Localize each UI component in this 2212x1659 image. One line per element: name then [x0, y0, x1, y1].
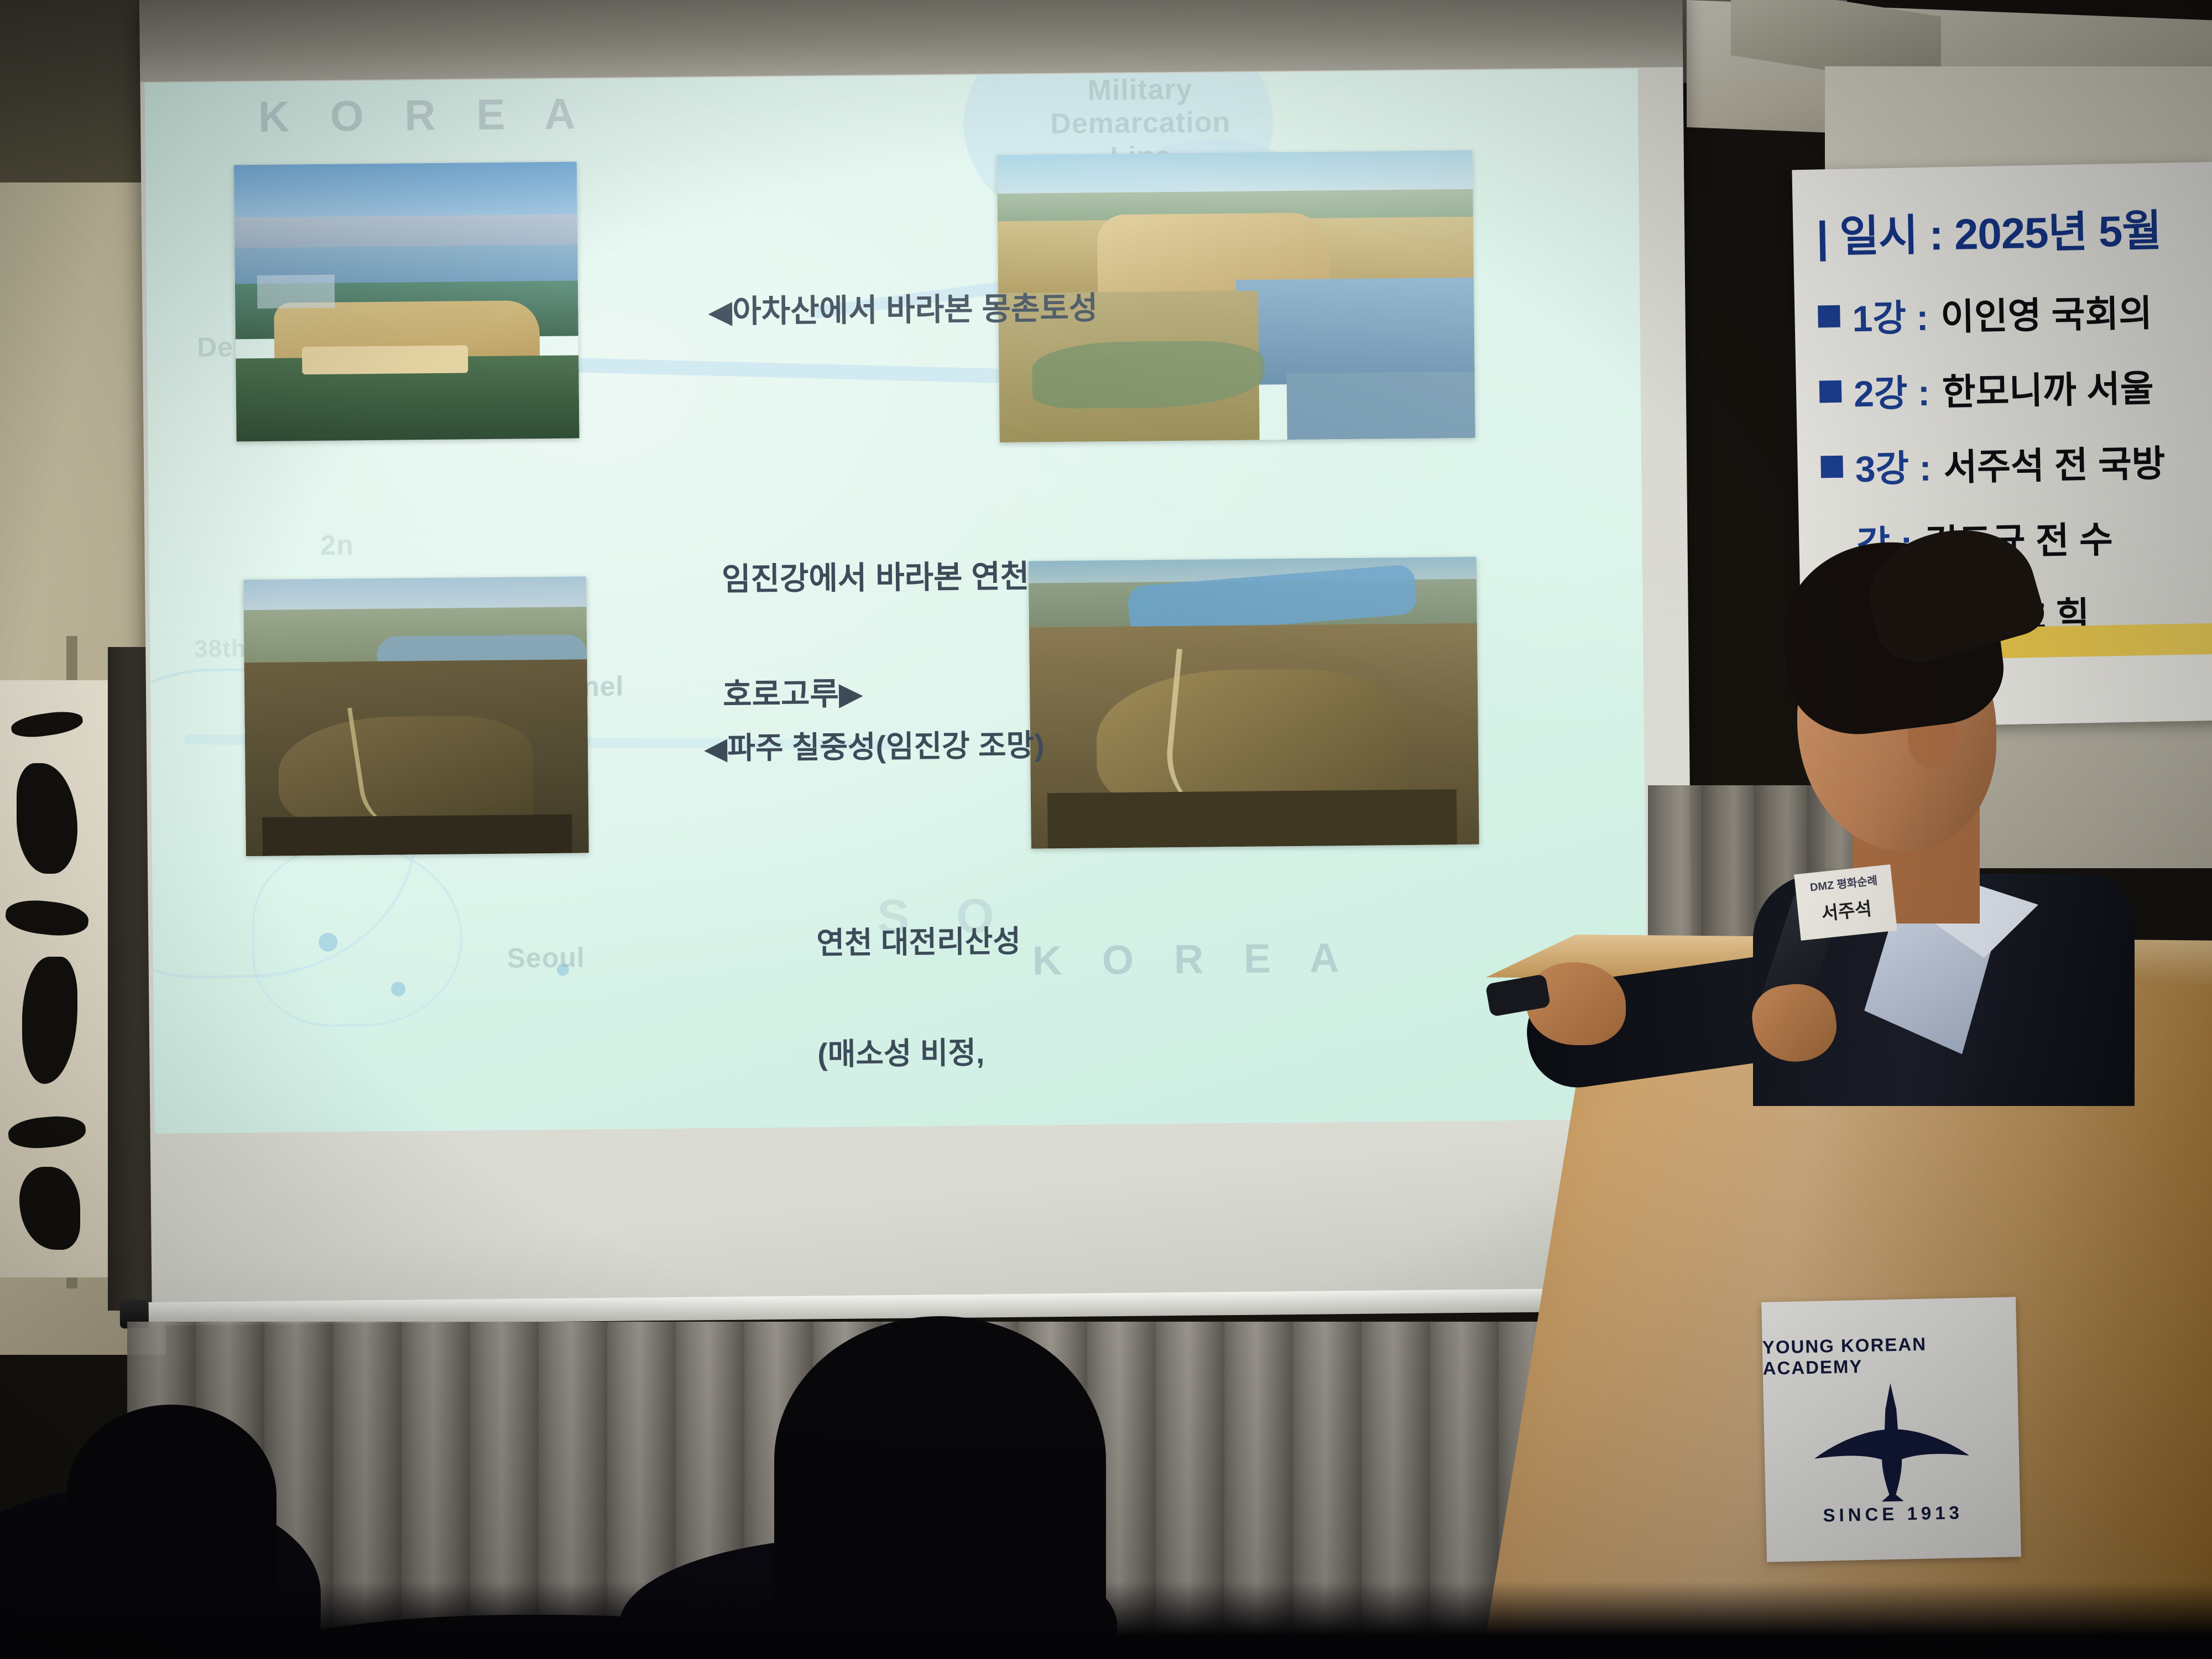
map-label-korea-top: K O R E A: [258, 88, 590, 142]
map-label-2nd-tunnel: 2n: [320, 529, 354, 561]
caption-daejeonri: 연천 대전리산성 (매소성 비정, 한탄강 조망)▶: [816, 849, 1024, 1134]
calligraphy-scroll: [0, 680, 111, 1277]
banner-item-3-num: 3강 :: [1855, 439, 1932, 493]
speaker-presenter: DMZ 평화순례 서주석: [1687, 542, 2107, 1018]
young-korean-academy-logo: YOUNG KOREAN ACADEMY SINCE 1913: [1761, 1297, 2021, 1562]
banner-item-3: 3강 : 서주석 전 국방: [1820, 433, 2212, 494]
map-island-outline: [252, 843, 463, 1027]
caption-horogoru-line1: 임진강에서 바라본 연천: [722, 558, 1030, 599]
bottom-shadow: [0, 1582, 2212, 1659]
map-marker-dot-1: [319, 933, 337, 952]
mdl-line-1: Military: [1007, 72, 1273, 108]
map-label-seoul: Seoul: [507, 941, 585, 974]
screenshot-root: K O R E A Military Demarcation Line De 3…: [0, 0, 2212, 1659]
map-label-dmz-partial: De: [197, 331, 233, 363]
banner-item-3-text: 서주석 전 국방: [1943, 434, 2166, 492]
logo-arc-text: YOUNG KOREAN ACADEMY: [1762, 1332, 2017, 1379]
banner-item-2-text: 한모니까 서울: [1942, 359, 2154, 416]
audience-member-1-head: [66, 1405, 276, 1587]
bird-icon: [1807, 1375, 1976, 1505]
caption-daejeonri-line2: (매소성 비정,: [817, 1034, 1022, 1073]
projection-screen: K O R E A Military Demarcation Line De 3…: [139, 0, 1734, 1327]
badge-name-text: 서주석: [1797, 891, 1896, 928]
map-river-imjin: [567, 358, 1065, 385]
caption-mongchon: ◀아차산에서 바라본 몽촌토성: [708, 289, 1098, 331]
badge-org-text: DMZ 평화순례: [1794, 870, 1892, 896]
screen-top-shadow: [139, 0, 1683, 82]
audience-member-2-head: [774, 1316, 1106, 1604]
logo-since-text: SINCE 1913: [1823, 1502, 1963, 1526]
speaker-name-badge: DMZ 평화순례 서주석: [1794, 864, 1897, 941]
caption-chiljungseong: ◀파주 칠중성(임진강 조망): [704, 727, 1045, 767]
square-bullet-icon: [1819, 380, 1842, 403]
square-bullet-icon: [1818, 305, 1840, 328]
map-label-korea-bottom: K O R E A: [1032, 934, 1354, 984]
banner-date-line: | 일시 : 2025년 5월: [1816, 195, 2212, 265]
caption-daejeonri-line1: 연천 대전리산성: [816, 923, 1021, 962]
photo-chiljungseong: [243, 576, 589, 856]
banner-item-2: 2강 : 한모니까 서울: [1819, 358, 2212, 419]
photo-daejeonri-sanseong: [1029, 557, 1479, 849]
banner-item-1: 1강 : 이인영 국회의: [1818, 283, 2212, 343]
map-marker-dot-2: [391, 982, 405, 996]
banner-item-1-text: 이인영 국회의: [1940, 284, 2152, 341]
square-bullet-icon: [1820, 456, 1843, 478]
screen-surface: K O R E A Military Demarcation Line De 3…: [139, 0, 1695, 1305]
mdl-line-2: Demarcation: [1008, 106, 1274, 142]
photo-mongchon-toseong: [234, 161, 580, 441]
banner-item-2-num: 2강 :: [1853, 363, 1931, 418]
banner-item-1-num: 1강 :: [1852, 288, 1929, 343]
projected-slide: K O R E A Military Demarcation Line De 3…: [144, 69, 1647, 1134]
caption-horogoru-line2: 호로고루▶: [723, 673, 1031, 714]
